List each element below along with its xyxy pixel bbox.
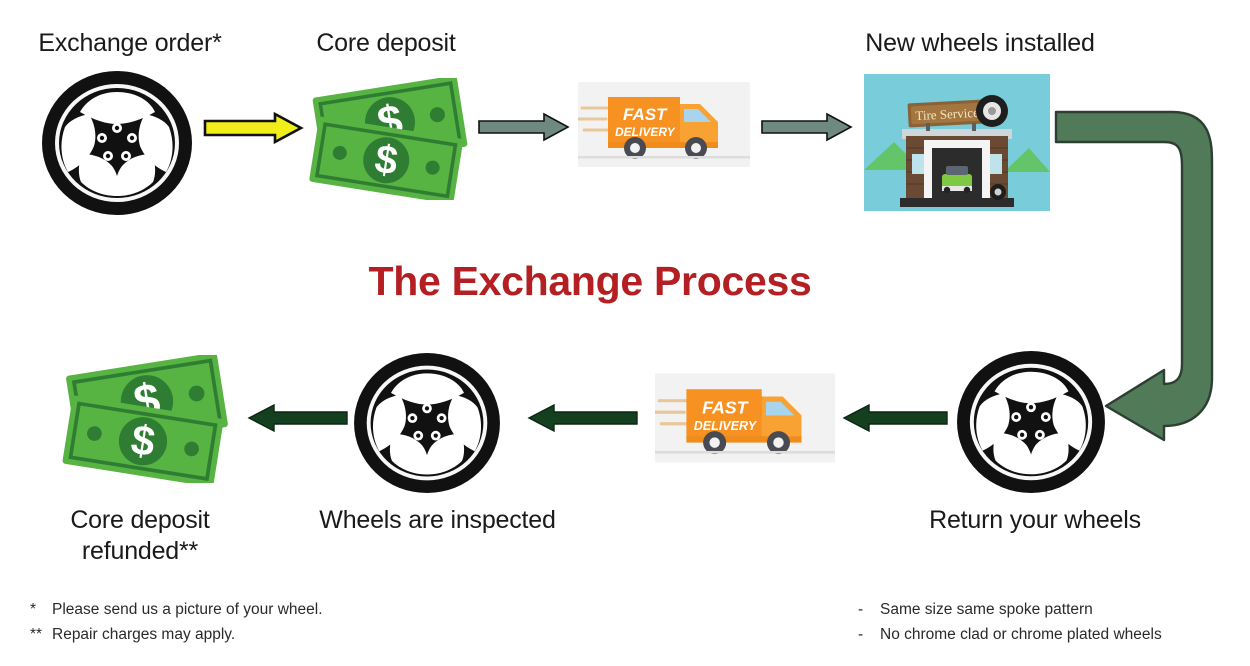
label-core-deposit: Core deposit <box>270 28 502 59</box>
arrow-shipping-to-shop <box>761 112 853 142</box>
truck-text-delivery: DELIVERY <box>615 125 676 139</box>
wheel-icon <box>40 70 194 216</box>
arrow-truck-to-inspect <box>528 404 638 432</box>
footnote-right-1: -Same size same spoke pattern <box>858 597 1093 622</box>
arrow-inspect-to-refund <box>248 404 348 432</box>
truck-text-delivery: DELIVERY <box>694 419 758 433</box>
footnote-marker: - <box>858 597 880 622</box>
wheel-icon <box>955 350 1107 494</box>
money-icon: $ $ <box>58 355 238 483</box>
footnote-marker: - <box>858 622 880 647</box>
shop-car <box>942 166 972 193</box>
label-core-deposit-refunded: Core deposit refunded** <box>35 505 245 567</box>
footnote-marker: ** <box>30 622 52 647</box>
truck-text-fast: FAST <box>702 397 750 417</box>
exchange-process-diagram: Exchange order* Core deposit New wheels … <box>0 0 1250 666</box>
footnote-text: Same size same spoke pattern <box>880 601 1093 618</box>
delivery-truck-icon: FAST DELIVERY <box>578 82 750 167</box>
truck-text-fast: FAST <box>623 105 668 124</box>
footnote-text: No chrome clad or chrome plated wheels <box>880 626 1162 643</box>
label-return-your-wheels: Return your wheels <box>890 505 1180 536</box>
arrow-order-to-deposit <box>203 112 303 144</box>
tire-service-shop-icon: Tire Service <box>864 74 1050 211</box>
footnote-marker: * <box>30 597 52 622</box>
footnote-left-1: *Please send us a picture of your wheel. <box>30 597 323 622</box>
footnote-text: Repair charges may apply. <box>52 626 235 643</box>
footnote-text: Please send us a picture of your wheel. <box>52 601 323 618</box>
arrow-return-to-truck <box>843 404 948 432</box>
page-title: The Exchange Process <box>0 258 1180 305</box>
label-exchange-order: Exchange order* <box>0 28 260 59</box>
money-icon: $ $ <box>305 78 477 200</box>
label-new-wheels-installed: New wheels installed <box>790 28 1170 59</box>
label-wheels-are-inspected: Wheels are inspected <box>295 505 580 536</box>
footnote-left-2: **Repair charges may apply. <box>30 622 235 647</box>
wheel-icon <box>352 352 502 494</box>
footnote-right-2: -No chrome clad or chrome plated wheels <box>858 622 1162 647</box>
arrow-deposit-to-shipping <box>478 112 570 142</box>
delivery-truck-icon: FAST DELIVERY <box>655 373 835 463</box>
